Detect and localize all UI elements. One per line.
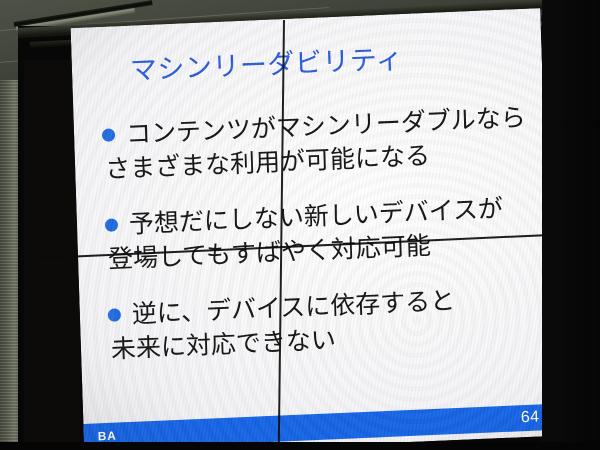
slide-page-number: 64 — [521, 408, 540, 427]
slide-background: マシンリーダビリティ コンテンツがマシンリーダブルなら さまざまな利用が可能にな… — [71, 8, 554, 450]
list-item: 予想だにしない新しいデバイスが 登場してもすばやく対応可能 — [92, 190, 544, 277]
slide-title: マシンリーダビリティ — [130, 39, 531, 87]
list-item: 逆に、デバイスに依存すると 未来に対応できない — [95, 280, 547, 367]
bullet-dot-icon — [108, 308, 121, 322]
bullet-dot-icon — [105, 218, 118, 232]
wall-bottom-dark — [0, 442, 600, 450]
projected-slide: マシンリーダビリティ コンテンツがマシンリーダブルなら さまざまな利用が可能にな… — [71, 8, 554, 450]
projector-screen-photo: マシンリーダビリティ コンテンツがマシンリーダブルなら さまざまな利用が可能にな… — [0, 0, 600, 450]
bullet-dot-icon — [102, 128, 115, 142]
list-item: コンテンツがマシンリーダブルなら さまざまな利用が可能になる — [90, 100, 542, 187]
wall-right-dark — [542, 0, 600, 450]
